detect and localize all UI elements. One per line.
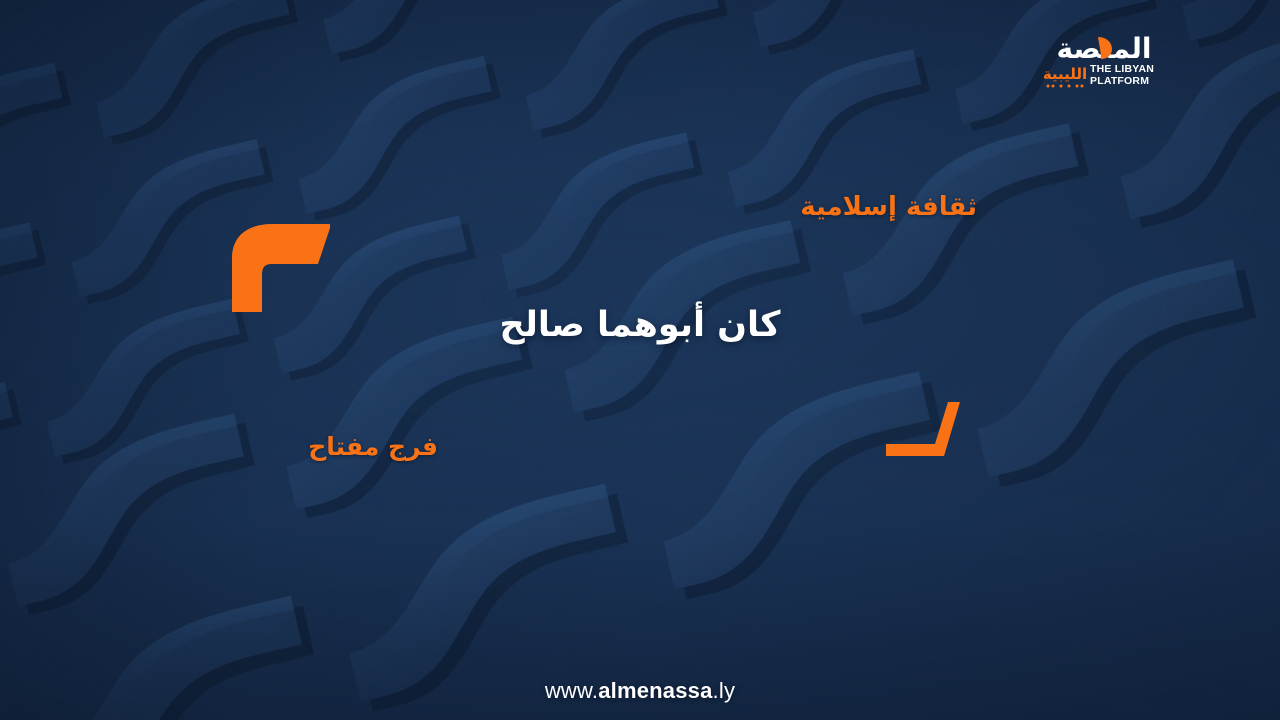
logo-arabic-subtitle: الليبية — [1043, 65, 1087, 83]
logo-dots-ornament — [1047, 85, 1084, 88]
logo-english-line2: PLATFORM — [1090, 75, 1149, 87]
url-domain-name: almenassa — [598, 678, 712, 703]
site-logo[interactable]: المنصة الليبية THE LIBYAN PLATFORM — [1012, 28, 1152, 94]
url-tld: .ly — [713, 678, 736, 703]
url-prefix: www. — [545, 678, 598, 703]
quote-close-icon — [886, 400, 960, 456]
author-name[interactable]: فرج مفتاح — [308, 432, 438, 461]
background-pattern — [0, 0, 1280, 720]
page-title: كان أبوهما صالح — [0, 303, 1280, 348]
logo-english-line1: THE LIBYAN — [1090, 63, 1154, 75]
quote-card: المنصة الليبية THE LIBYAN PLATFORM ثقافة… — [0, 0, 1280, 720]
category-label[interactable]: ثقافة إسلامية — [800, 192, 977, 222]
quote-open-icon — [218, 222, 330, 312]
footer-website-url[interactable]: www.almenassa.ly — [0, 678, 1280, 704]
